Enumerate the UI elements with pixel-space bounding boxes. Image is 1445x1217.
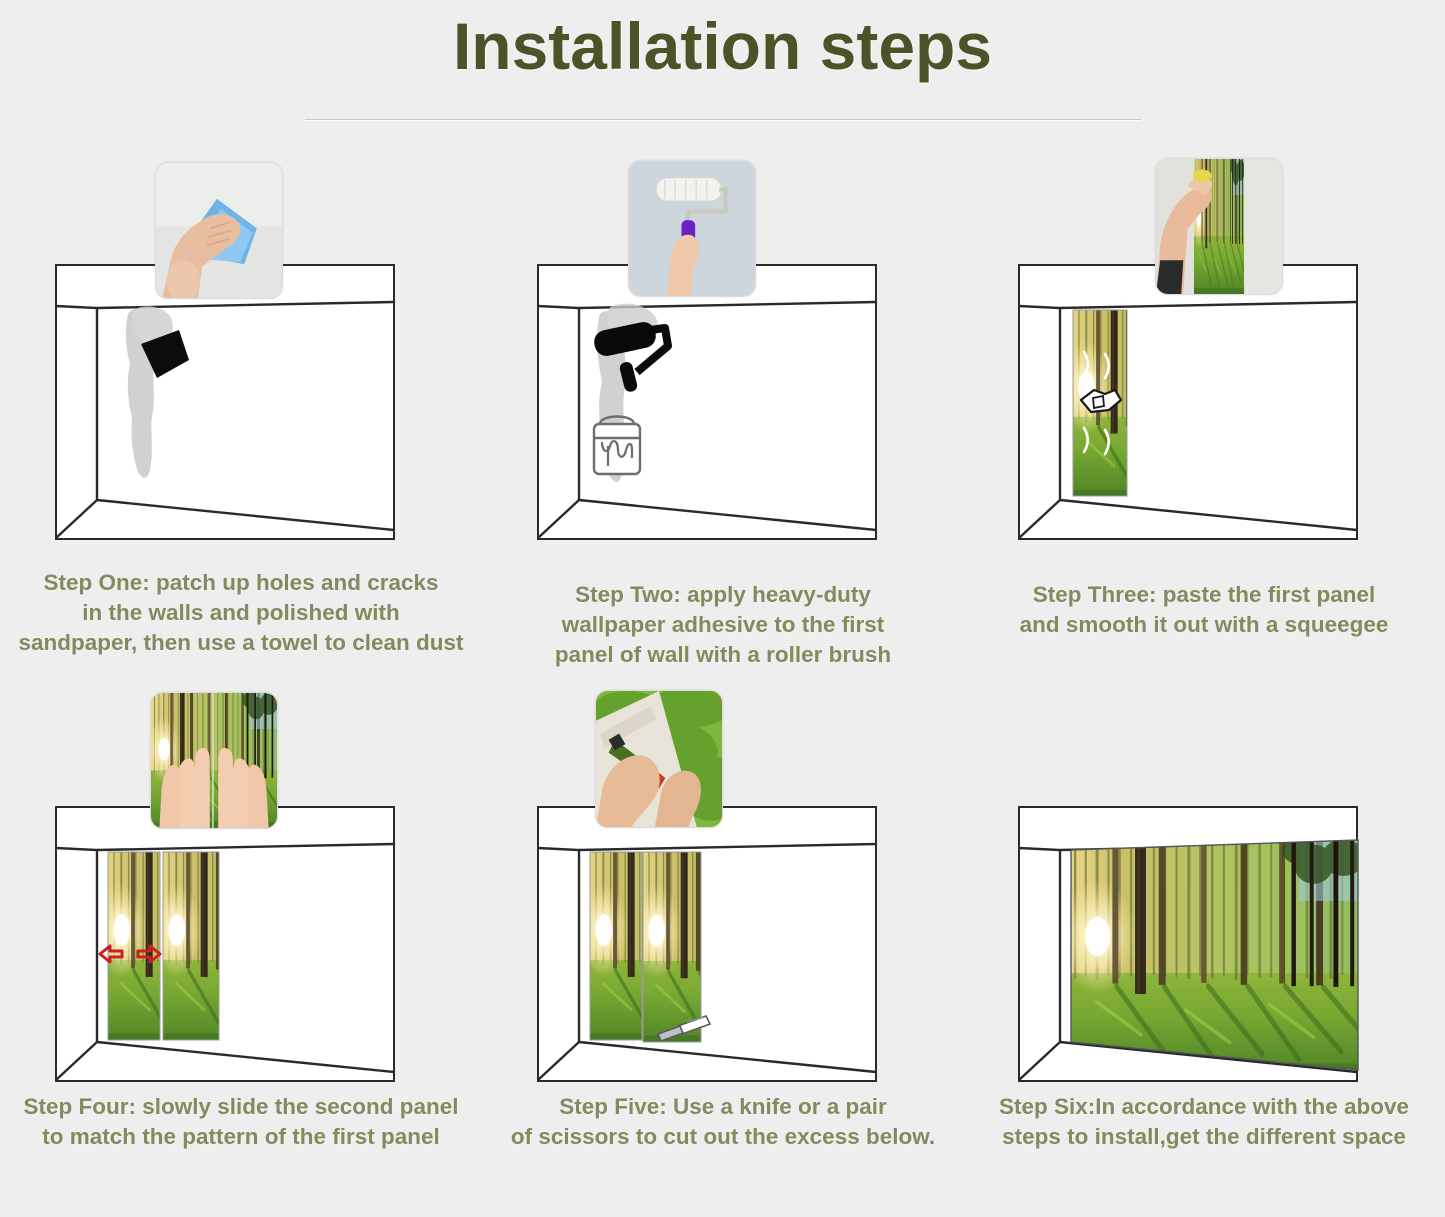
caption-step-five: Step Five: Use a knife or a pair of scis… (482, 1092, 964, 1152)
caption-step-one: Step One: patch up holes and cracks in t… (0, 568, 482, 658)
wallpaper-full-mural (1059, 835, 1365, 1074)
step-card-four: Step Four: slowly slide the second panel… (0, 692, 482, 1212)
caption-step-four: Step Four: slowly slide the second panel… (0, 1092, 482, 1152)
installation-steps-infographic: Installation steps (0, 0, 1445, 1217)
caption-step-three: Step Three: paste the first panel and sm… (963, 580, 1445, 640)
steps-row-top: Step One: patch up holes and cracks in t… (0, 150, 1445, 670)
title-divider (305, 119, 1141, 121)
page-title: Installation steps (0, 8, 1445, 84)
paint-bucket-icon (594, 417, 640, 475)
step-card-five: Step Five: Use a knife or a pair of scis… (482, 692, 964, 1212)
step-card-two: Step Two: apply heavy-duty wallpaper adh… (482, 150, 964, 670)
room-illustration-step-five (482, 692, 964, 1092)
step-card-one: Step One: patch up holes and cracks in t… (0, 150, 482, 670)
thumbnail-step-two (628, 160, 756, 297)
step-card-three: Step Three: paste the first panel and sm… (963, 150, 1445, 670)
steps-row-bottom: Step Four: slowly slide the second panel… (0, 692, 1445, 1212)
steps-grid: Step One: patch up holes and cracks in t… (0, 150, 1445, 1212)
thumbnail-step-three (1155, 158, 1283, 295)
caption-step-six: Step Six:In accordance with the above st… (963, 1092, 1445, 1152)
caption-step-two: Step Two: apply heavy-duty wallpaper adh… (482, 580, 964, 670)
step-card-six: Step Six:In accordance with the above st… (963, 692, 1445, 1212)
thumbnail-step-five (595, 690, 723, 828)
thumbnail-step-four (150, 692, 278, 829)
room-illustration-step-six (963, 692, 1445, 1092)
thumbnail-step-one (155, 162, 283, 299)
